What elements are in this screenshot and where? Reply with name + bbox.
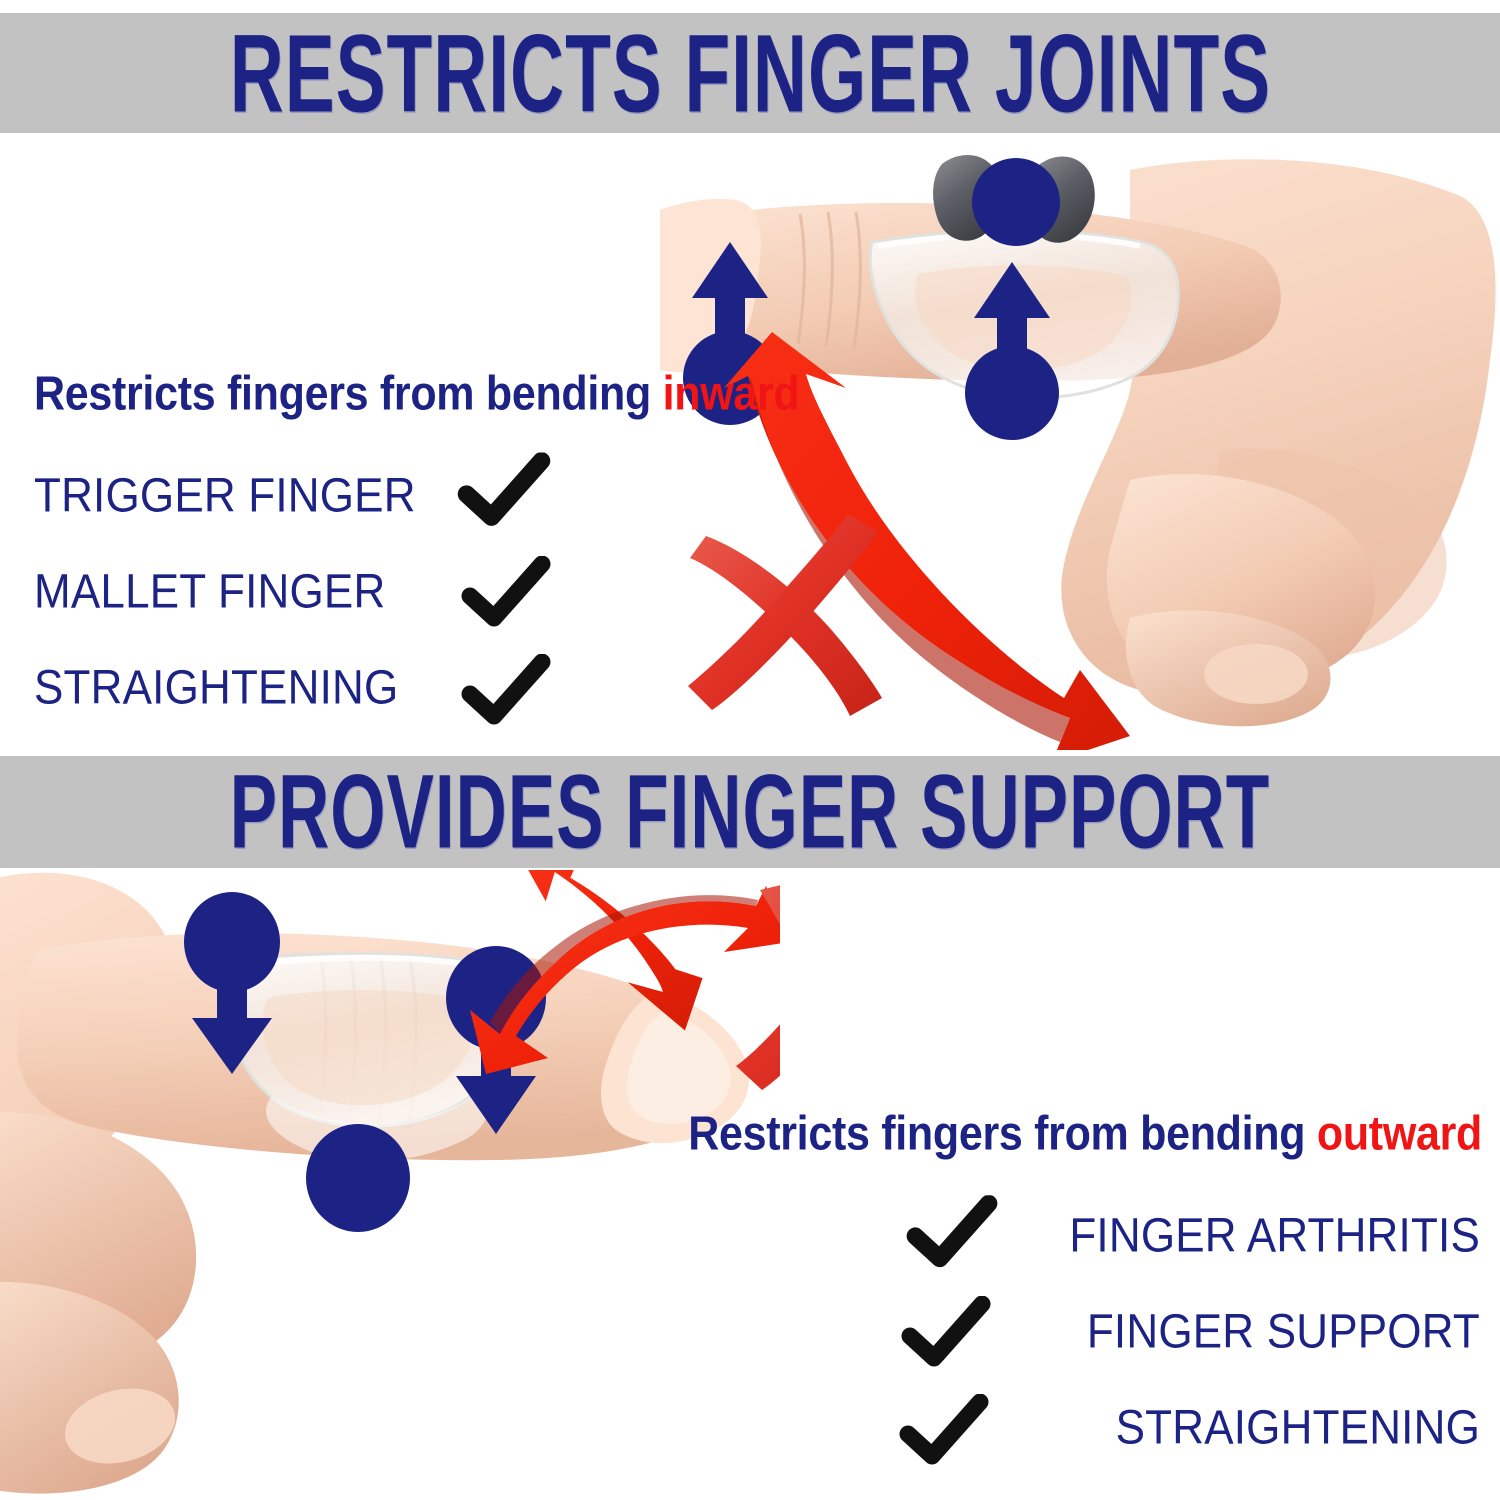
section-banner-restricts-finger-joints: RESTRICTS FINGER JOINTS (0, 13, 1500, 133)
feature-label-finger-arthritis: FINGER ARTHRITIS (1010, 1209, 1480, 1264)
product-infographic-poster: RESTRICTS FINGER JOINTS (0, 0, 1500, 1500)
photo-hand-extended-outward (0, 870, 780, 1500)
navy-dot-under-splint (306, 1124, 410, 1232)
feature-list-restricts-outward: FINGER ARTHRITIS FINGER SUPPORT STRAIGHT… (900, 1188, 1480, 1476)
headline-restricts-outward: Restricts fingers from bending outward (688, 1107, 1482, 1162)
hand-illustration-top (660, 150, 1500, 750)
feature-row: FINGER ARTHRITIS (900, 1188, 1480, 1284)
headline-prefix-top: Restricts fingers from bending (34, 367, 663, 421)
photo-hand-bent-inward (660, 150, 1500, 750)
feature-list-restricts-inward: TRIGGER FINGER MALLET FINGER STRAIGHTENI… (34, 448, 550, 736)
section-banner-provides-finger-support: PROVIDES FINGER SUPPORT (0, 756, 1500, 868)
check-icon (898, 1394, 990, 1466)
feature-label-trigger-finger: TRIGGER FINGER (34, 469, 454, 524)
feature-label-straightening: STRAIGHTENING (34, 661, 454, 716)
headline-prefix-bottom: Restricts fingers from bending (688, 1107, 1317, 1161)
check-icon (456, 453, 552, 528)
check-icon (460, 556, 552, 628)
red-x-mark (688, 514, 882, 716)
headline-accent-outward: outward (1317, 1107, 1482, 1161)
feature-label-mallet-finger: MALLET FINGER (34, 565, 454, 620)
check-icon (905, 1195, 999, 1268)
feature-row: TRIGGER FINGER (34, 448, 550, 544)
feature-row: STRAIGHTENING (34, 640, 550, 736)
feature-row: FINGER SUPPORT (900, 1284, 1480, 1380)
headline-restricts-inward: Restricts fingers from bending inward (34, 367, 799, 422)
check-icon (460, 654, 552, 726)
banner-title-top: RESTRICTS FINGER JOINTS (229, 18, 1270, 129)
feature-row: MALLET FINGER (34, 544, 550, 640)
feature-label-finger-support: FINGER SUPPORT (1010, 1305, 1480, 1360)
feature-row: STRAIGHTENING (900, 1380, 1480, 1476)
banner-title-bottom: PROVIDES FINGER SUPPORT (230, 759, 1270, 864)
check-icon (900, 1296, 992, 1368)
headline-accent-inward: inward (663, 367, 800, 421)
fingernail-folded (1204, 644, 1308, 704)
navy-dot-clip (972, 158, 1060, 246)
hand-illustration-bottom (0, 870, 780, 1500)
feature-label-straightening-bottom: STRAIGHTENING (1010, 1401, 1480, 1456)
